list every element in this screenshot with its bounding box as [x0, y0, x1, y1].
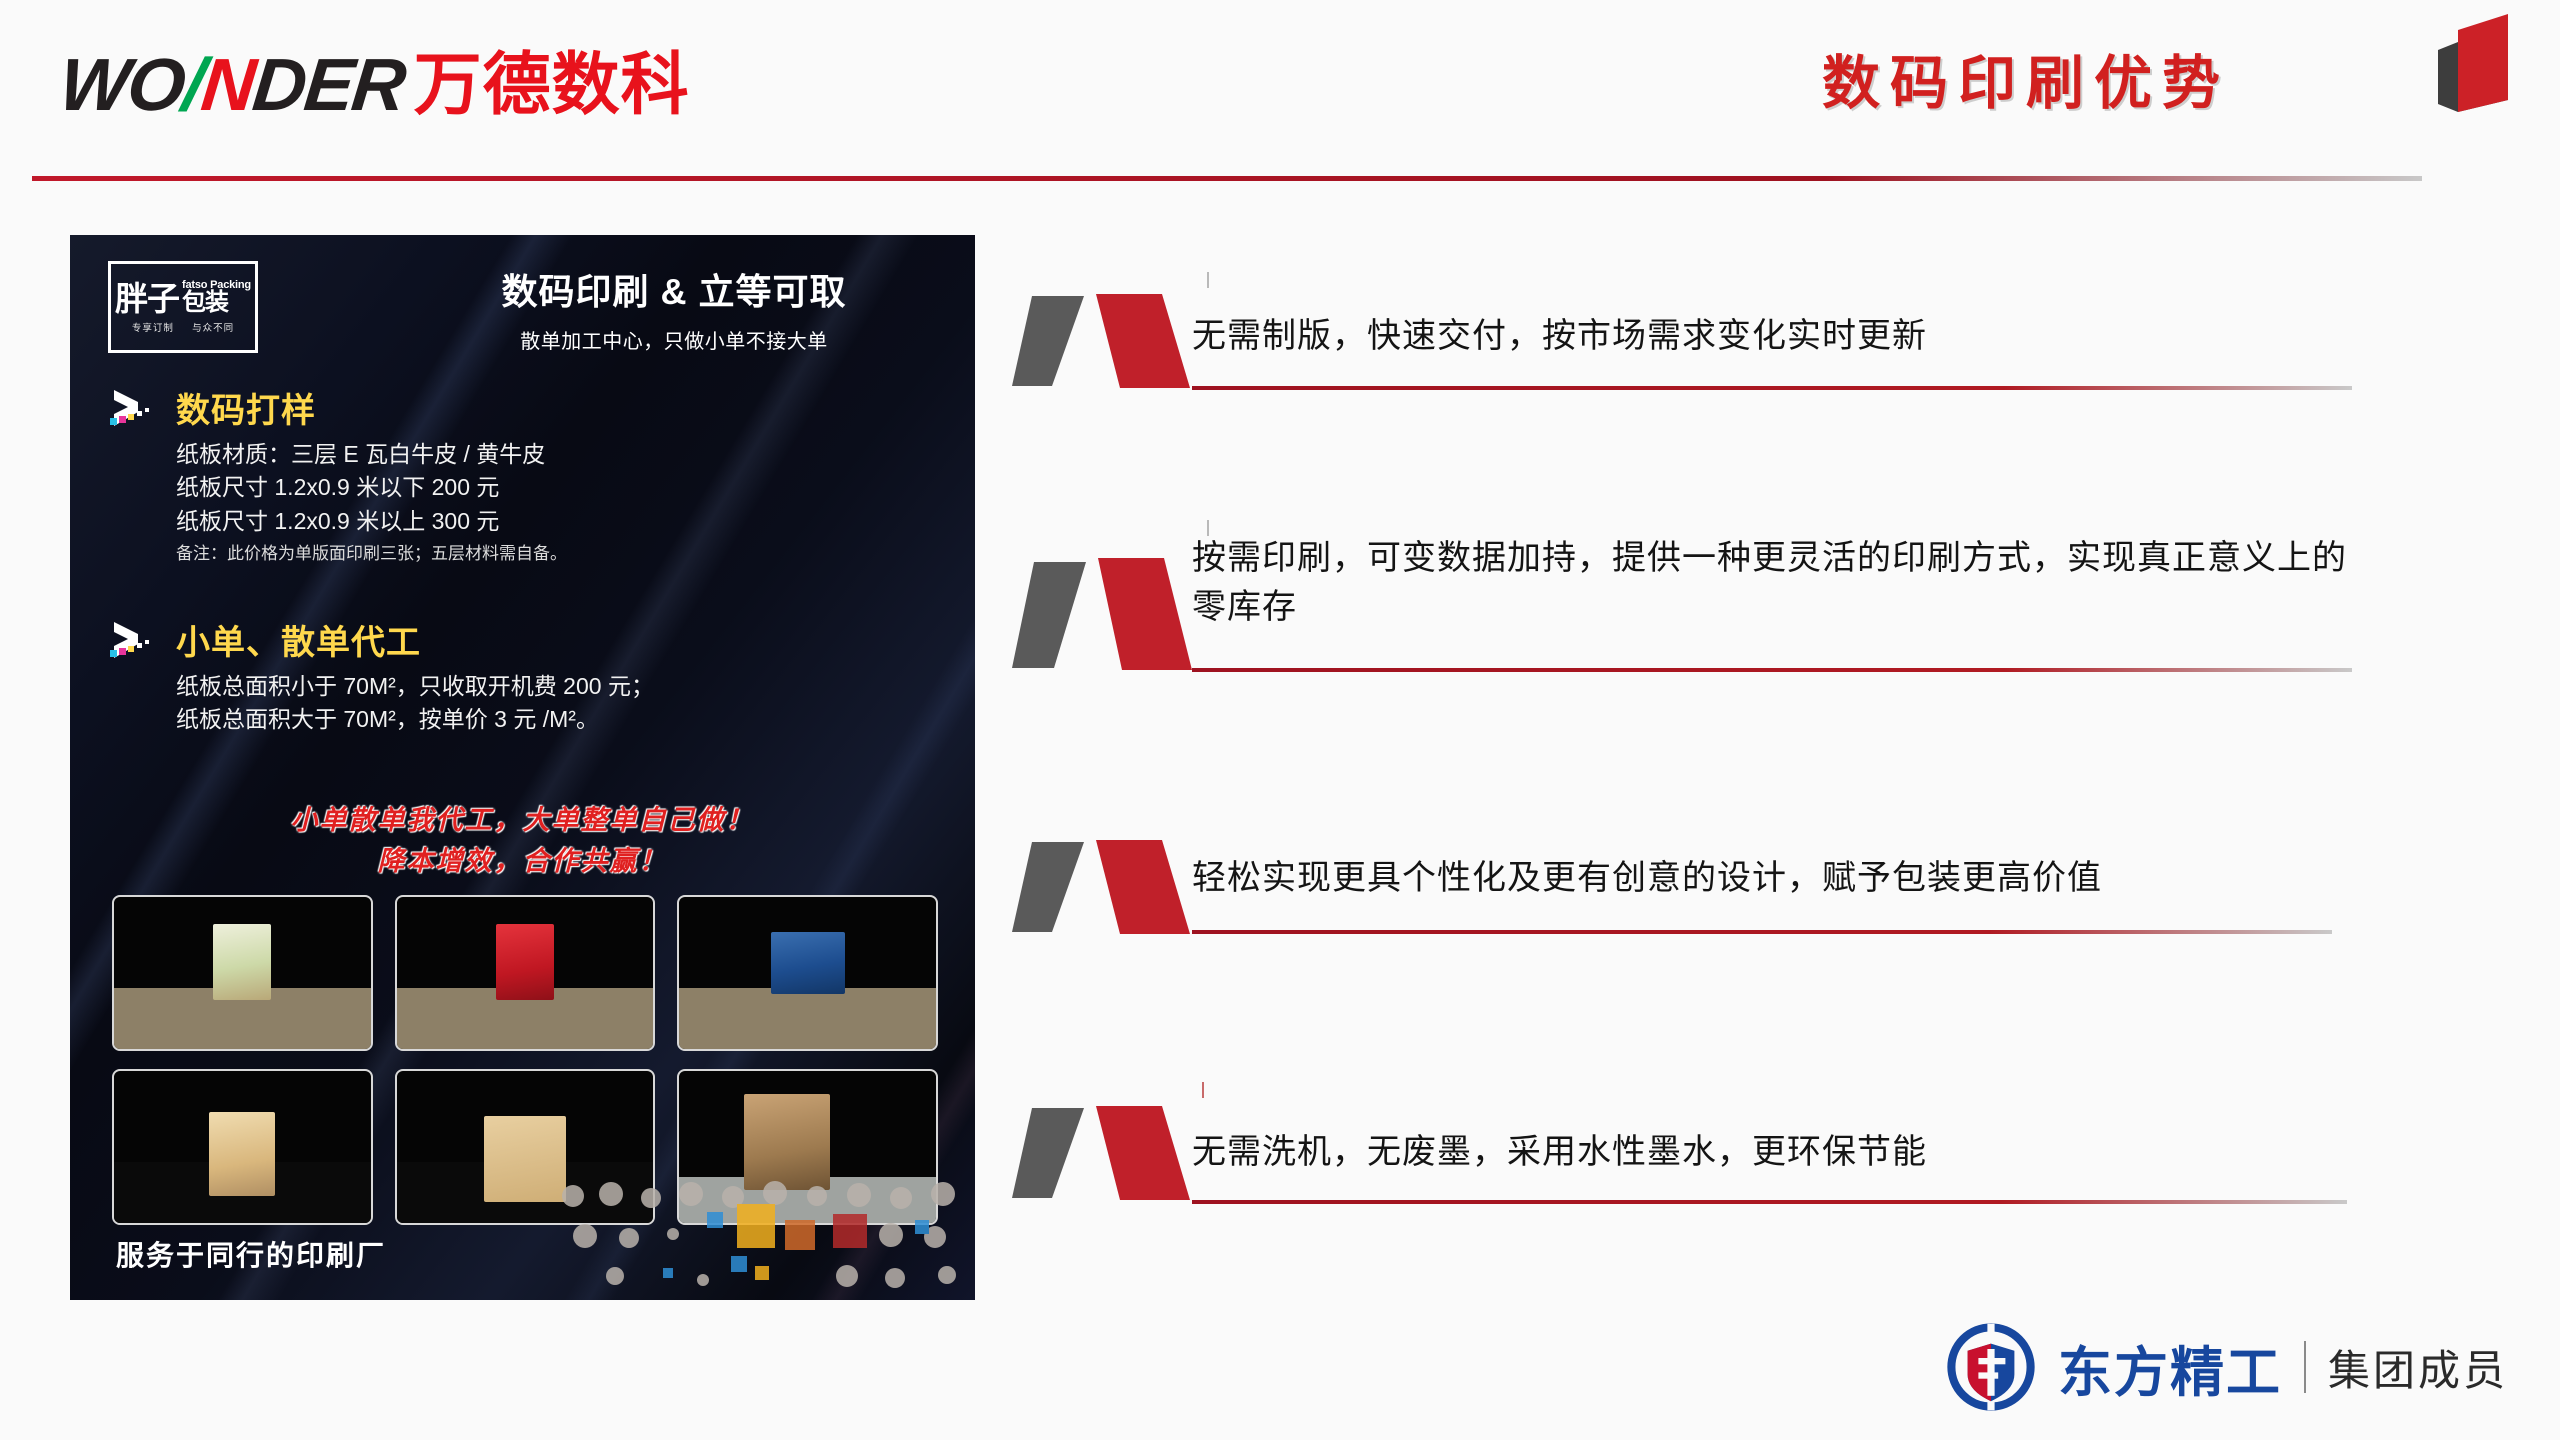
footer-company-name: 东方精工 [2058, 1328, 2282, 1407]
product-photo-grid [112, 895, 938, 1225]
slogan-line-1: 小单散单我代工，大单整单自己做！ [70, 800, 975, 841]
poster-headline: 数码印刷 & 立等可取 [404, 263, 944, 315]
footer-member-label: 集团成员 [2328, 1337, 2508, 1398]
product-photo [395, 895, 656, 1051]
product-photo [677, 895, 938, 1051]
bullet-underline [1192, 1200, 2347, 1204]
page-title: 数码印刷优势 [1822, 36, 2230, 120]
dongfang-shield-icon [1946, 1322, 2036, 1412]
bullet-marker-icon [1012, 530, 1202, 680]
section-note: 备注：此价格为单版面印刷三张；五层材料需自备。 [176, 542, 948, 566]
bullet-underline [1192, 930, 2332, 934]
logo-cn-big: 胖子 [115, 283, 179, 315]
header-divider [32, 176, 2422, 181]
poster-section-small-batch-oem: 小单、散单代工 纸板总面积小于 70M²，只收取开机费 200 元； 纸板总面积… [108, 615, 948, 737]
bullet-marker-icon [1012, 290, 1202, 398]
bullet-underline [1192, 386, 2352, 390]
logo-tagline: 专享订制 与众不同 [132, 320, 234, 334]
bullet-text: 轻松实现更具个性化及更有创意的设计，赋予包装更高价值 [1192, 854, 2352, 903]
poster-subheadline: 散单加工中心，只做小单不接大单 [404, 325, 944, 354]
footer-branding: 东方精工 集团成员 [1946, 1322, 2508, 1412]
poster-footer-text: 服务于同行的印刷厂 [116, 1234, 386, 1274]
section-title: 数码打样 [176, 383, 316, 432]
section-line: 纸板材质：三层 E 瓦白牛皮 / 黄牛皮 [176, 438, 948, 471]
folded-page-icon [2420, 8, 2520, 118]
footer-divider [2304, 1341, 2306, 1393]
logo-tagline-right: 与众不同 [192, 323, 234, 334]
product-photo [112, 1069, 373, 1225]
brand-chinese-name: 万德数科 [414, 51, 690, 119]
fatso-packing-logo: 胖子 fatso Packing 包装 专享订制 与众不同 [108, 261, 258, 353]
section-line: 纸板尺寸 1.2x0.9 米以上 300 元 [176, 505, 948, 538]
decorative-dot-pattern [555, 1180, 975, 1300]
wordmark-letter-n: N [198, 43, 258, 126]
section-line: 纸板总面积大于 70M²，按单价 3 元 /M²。 [176, 703, 948, 736]
bullet-marker-icon [1012, 840, 1202, 948]
poster-slogan: 小单散单我代工，大单整单自己做！ 降本增效，合作共赢！ [70, 800, 975, 881]
chevron-arrow-icon [108, 620, 164, 660]
bullet-marker-icon [1012, 1100, 1202, 1208]
poster-header: 胖子 fatso Packing 包装 专享订制 与众不同 数码印刷 & 立等可… [104, 255, 944, 365]
chevron-arrow-icon [108, 388, 164, 428]
section-line: 纸板总面积小于 70M²，只收取开机费 200 元； [176, 670, 948, 703]
section-title: 小单、散单代工 [176, 615, 421, 664]
wordmark-part-1: WO [56, 43, 188, 126]
logo-cn-small: 包装 [182, 291, 228, 315]
wonder-wordmark: WO/NDER [56, 48, 407, 122]
promo-poster: 胖子 fatso Packing 包装 专享订制 与众不同 数码印刷 & 立等可… [70, 235, 975, 1300]
product-photo [112, 895, 373, 1051]
bullet-text: 无需制版，快速交付，按市场需求变化实时更新 [1192, 312, 2352, 361]
section-line: 纸板尺寸 1.2x0.9 米以下 200 元 [176, 471, 948, 504]
bullet-text: 无需洗机，无废墨，采用水性墨水，更环保节能 [1192, 1128, 2352, 1177]
bullet-text: 按需印刷，可变数据加持，提供一种更灵活的印刷方式，实现真正意义上的零库存 [1192, 534, 2352, 633]
slogan-line-2: 降本增效，合作共赢！ [70, 841, 975, 882]
bullet-underline [1192, 668, 2352, 672]
poster-section-digital-proofing: 数码打样 纸板材质：三层 E 瓦白牛皮 / 黄牛皮 纸板尺寸 1.2x0.9 米… [108, 383, 948, 566]
wordmark-part-2: DER [249, 43, 408, 126]
logo-tagline-left: 专享订制 [132, 323, 174, 334]
company-logo: WO/NDER 万德数科 [60, 48, 690, 122]
slide: WO/NDER 万德数科 数码印刷优势 胖子 fatso Packing 包装 … [0, 0, 2560, 1440]
